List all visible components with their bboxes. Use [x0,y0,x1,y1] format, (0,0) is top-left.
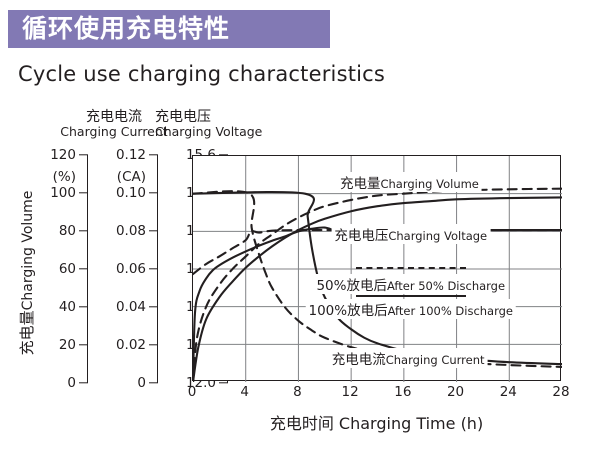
page-subtitle: Cycle use charging characteristics [18,62,385,86]
x-tick-label: 24 [500,384,517,400]
annotation-en: After 100% Discharge [388,304,513,318]
annotation-cn: 50%放电后 [316,278,387,294]
axis-tick-label: 100 [50,185,76,201]
annotation-cn: 充电电流 [332,352,386,368]
axis-tick-mark [79,344,88,345]
axis-tick-mark [79,306,88,307]
x-tick-label: 16 [394,384,411,400]
axis-header-voltage-en: Charging Voltage [155,125,285,138]
axis-tick-label: 80 [59,223,76,239]
axis-header-voltage-cn: 充电电压 [155,110,285,125]
annotation-en: Charging Volume [380,177,478,191]
x-tick-label: 8 [293,384,302,400]
axis-tick-label: 20 [59,337,76,353]
axis-tick-mark [79,154,88,155]
chart-annotation: 50%放电后After 50% Discharge [313,274,508,294]
axis-tick-mark [149,192,158,193]
axis-tick-mark [79,268,88,269]
axis-tick-mark [149,382,158,383]
axis-tick-mark [149,344,158,345]
axis-unit-label: (%) [53,169,76,185]
axis-tick-mark [149,230,158,231]
axis-header-charging-voltage: 充电电压 Charging Voltage [155,110,285,138]
axis-tick-label: 0.02 [116,337,146,353]
axis-tick-label: 0 [67,375,76,391]
tick-column-charging-volume: 120(%)100806040200 [32,148,88,390]
axis-unit-label: (CA) [117,169,146,185]
chart-annotation: 充电电压Charging Voltage [331,224,490,244]
axis-tick-label: 0.12 [116,147,146,163]
annotation-cn: 充电电压 [334,228,388,244]
axis-tick-label: 0 [137,375,146,391]
axis-tick-label: 0.08 [116,223,146,239]
axis-tick-label: 0.10 [116,185,146,201]
chart-annotation: 充电量Charging Volume [337,172,482,192]
legend-key-solid [356,295,466,297]
tick-column-charging-current: 0.12(CA)0.100.080.060.040.020 [102,148,158,390]
x-axis-label-en: Charging Time (h) [339,414,483,433]
axis-tick-mark [149,268,158,269]
axis-tick-mark [149,154,158,155]
chart-annotation: 100%放电后After 100% Discharge [305,299,516,319]
x-tick-label: 12 [342,384,359,400]
axis-header-current-cn: 充电电流 [58,110,170,125]
axis-tick-mark [219,382,228,383]
chart-annotation: 充电电流Charging Current [329,348,488,368]
axis-tick-mark [149,306,158,307]
axis-tick-label: 60 [59,261,76,277]
axis-tick-label: 40 [59,299,76,315]
annotation-cn: 100%放电后 [308,303,387,319]
annotation-en: Charging Current [386,353,485,367]
banner-title-bar: 循环使用充电特性 [8,10,330,48]
axis-tick-mark [79,382,88,383]
axis-tick-label: 0.06 [116,261,146,277]
legend-key-dashed [356,267,466,269]
x-axis-label-cn: 充电时间 [270,414,334,433]
axis-header-charging-current: 充电电流 Charging Current [58,110,170,138]
banner-title-text: 循环使用充电特性 [8,10,230,48]
x-tick-label: 20 [447,384,464,400]
x-tick-label: 28 [552,384,569,400]
annotation-en: Charging Voltage [388,229,487,243]
annotation-en: After 50% Discharge [387,279,505,293]
x-tick-label: 4 [240,384,249,400]
axis-header-current-en: Charging Current [58,125,170,138]
axis-tick-label: 0.04 [116,299,146,315]
axis-tick-mark [79,192,88,193]
annotation-cn: 充电量 [340,176,381,192]
axis-tick-mark [79,230,88,231]
axis-tick-label: 120 [50,147,76,163]
x-axis-label: 充电时间 Charging Time (h) [192,410,561,434]
x-tick-label: 0 [188,384,197,400]
